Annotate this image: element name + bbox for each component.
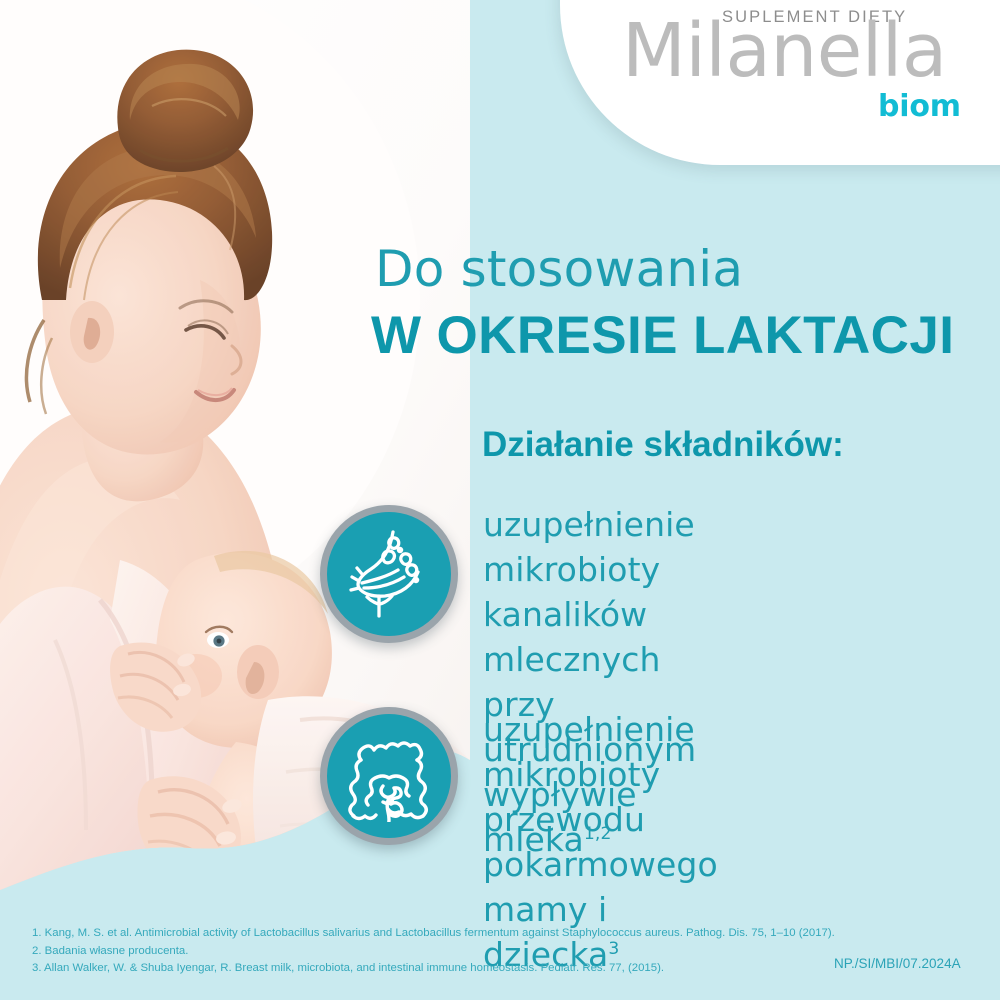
advertisement-banner: SUPLEMENT DIETY Milanella biom Do stosow… <box>0 0 1000 1000</box>
footnote-line: 1. Kang, M. S. et al. Antimicrobial acti… <box>32 925 972 943</box>
section-subheading: Działanie składników: <box>482 424 844 466</box>
intestine-icon <box>320 707 458 845</box>
brand-name: Milanella <box>622 14 947 88</box>
brand-logo-card: SUPLEMENT DIETY Milanella biom <box>560 0 1000 165</box>
footnote-line: 3. Allan Walker, W. & Shuba Iyengar, R. … <box>32 960 972 978</box>
breast-milk-ducts-icon <box>320 505 458 643</box>
brand-subname: biom <box>878 92 961 122</box>
footnotes: 1. Kang, M. S. et al. Antimicrobial acti… <box>32 925 972 978</box>
headline-line-1: Do stosowania <box>375 240 743 298</box>
headline-line-2: W OKRESIE LAKTACJI <box>371 306 954 366</box>
footnote-line: 2. Badania własne producenta. <box>32 943 972 961</box>
regulatory-code: NP./SI/MBI/07.2024A <box>834 955 961 972</box>
